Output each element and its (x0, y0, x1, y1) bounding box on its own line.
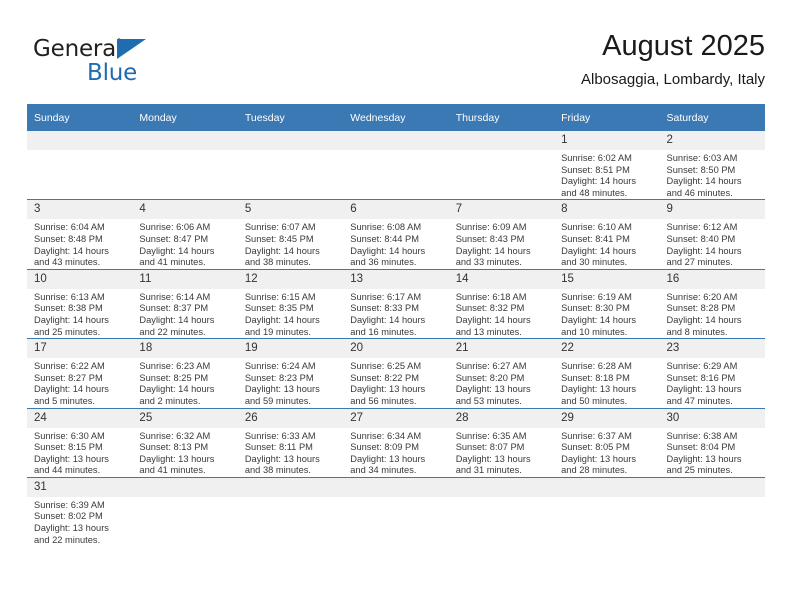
day-sunset-line: Sunset: 8:45 PM (245, 234, 337, 246)
day-number: 28 (449, 409, 554, 428)
day-daylight2-line: and 25 minutes. (667, 465, 759, 477)
calendar-day-cell[interactable]: 17Sunrise: 6:22 AMSunset: 8:27 PMDayligh… (27, 339, 132, 408)
day-sun-info: Sunrise: 6:09 AMSunset: 8:43 PMDaylight:… (449, 219, 554, 268)
day-daylight1-line: Daylight: 13 hours (667, 454, 759, 466)
day-sun-info: Sunrise: 6:32 AMSunset: 8:13 PMDaylight:… (132, 428, 237, 477)
day-sun-info: Sunrise: 6:20 AMSunset: 8:28 PMDaylight:… (660, 289, 765, 338)
calendar-day-cell-empty (27, 131, 132, 200)
day-daylight2-line: and 22 minutes. (139, 327, 231, 339)
day-daylight1-line: Daylight: 13 hours (561, 384, 653, 396)
day-number: 11 (132, 270, 237, 289)
day-daylight1-line: Daylight: 14 hours (456, 315, 548, 327)
day-sunset-line: Sunset: 8:11 PM (245, 442, 337, 454)
day-daylight2-line: and 31 minutes. (456, 465, 548, 477)
day-sunrise-line: Sunrise: 6:07 AM (245, 222, 337, 234)
day-daylight2-line: and 10 minutes. (561, 327, 653, 339)
day-daylight2-line: and 38 minutes. (245, 465, 337, 477)
calendar-day-cell-empty (132, 131, 237, 200)
day-number (449, 131, 554, 150)
day-daylight2-line: and 41 minutes. (139, 465, 231, 477)
calendar-day-cell-empty (449, 131, 554, 200)
day-sun-info: Sunrise: 6:07 AMSunset: 8:45 PMDaylight:… (238, 219, 343, 268)
day-daylight2-line: and 16 minutes. (350, 327, 442, 339)
day-number: 10 (27, 270, 132, 289)
day-sunrise-line: Sunrise: 6:20 AM (667, 292, 759, 304)
day-sunset-line: Sunset: 8:27 PM (34, 373, 126, 385)
day-sunrise-line: Sunrise: 6:14 AM (139, 292, 231, 304)
day-daylight1-line: Daylight: 14 hours (245, 246, 337, 258)
day-sunrise-line: Sunrise: 6:24 AM (245, 361, 337, 373)
day-sunset-line: Sunset: 8:41 PM (561, 234, 653, 246)
day-daylight2-line: and 53 minutes. (456, 396, 548, 408)
logo-text-general: General (33, 36, 122, 62)
calendar-day-cell[interactable]: 27Sunrise: 6:34 AMSunset: 8:09 PMDayligh… (343, 408, 448, 477)
day-sunset-line: Sunset: 8:25 PM (139, 373, 231, 385)
day-daylight1-line: Daylight: 14 hours (34, 246, 126, 258)
day-sunset-line: Sunset: 8:13 PM (139, 442, 231, 454)
day-sunset-line: Sunset: 8:20 PM (456, 373, 548, 385)
day-sunrise-line: Sunrise: 6:19 AM (561, 292, 653, 304)
day-daylight2-line: and 34 minutes. (350, 465, 442, 477)
weekday-header-saturday: Saturday (660, 104, 765, 131)
day-daylight1-line: Daylight: 14 hours (139, 246, 231, 258)
calendar-week-row: 24Sunrise: 6:30 AMSunset: 8:15 PMDayligh… (27, 408, 765, 477)
day-number: 8 (554, 200, 659, 219)
day-daylight2-line: and 56 minutes. (350, 396, 442, 408)
calendar-day-cell[interactable]: 23Sunrise: 6:29 AMSunset: 8:16 PMDayligh… (660, 339, 765, 408)
day-sunset-line: Sunset: 8:22 PM (350, 373, 442, 385)
day-sun-info: Sunrise: 6:27 AMSunset: 8:20 PMDaylight:… (449, 358, 554, 407)
day-number: 27 (343, 409, 448, 428)
calendar-day-cell[interactable]: 4Sunrise: 6:06 AMSunset: 8:47 PMDaylight… (132, 200, 237, 269)
day-daylight2-line: and 19 minutes. (245, 327, 337, 339)
day-daylight1-line: Daylight: 14 hours (139, 384, 231, 396)
day-daylight1-line: Daylight: 13 hours (245, 454, 337, 466)
day-sunset-line: Sunset: 8:23 PM (245, 373, 337, 385)
day-sun-info: Sunrise: 6:03 AMSunset: 8:50 PMDaylight:… (660, 150, 765, 199)
day-sunset-line: Sunset: 8:09 PM (350, 442, 442, 454)
day-daylight1-line: Daylight: 13 hours (350, 384, 442, 396)
day-sun-info: Sunrise: 6:04 AMSunset: 8:48 PMDaylight:… (27, 219, 132, 268)
calendar-page: General Blue August 2025 Albosaggia, Lom… (0, 0, 792, 612)
day-daylight2-line: and 27 minutes. (667, 257, 759, 269)
day-sunrise-line: Sunrise: 6:17 AM (350, 292, 442, 304)
weekday-header-sunday: Sunday (27, 104, 132, 131)
calendar-day-cell[interactable]: 31Sunrise: 6:39 AMSunset: 8:02 PMDayligh… (27, 477, 132, 546)
calendar-day-cell-empty (343, 477, 448, 546)
day-sunrise-line: Sunrise: 6:30 AM (34, 431, 126, 443)
day-sun-info: Sunrise: 6:24 AMSunset: 8:23 PMDaylight:… (238, 358, 343, 407)
logo-text-blue: Blue (87, 60, 137, 86)
day-sunrise-line: Sunrise: 6:23 AM (139, 361, 231, 373)
logo-triangle-icon (117, 39, 146, 59)
day-daylight1-line: Daylight: 14 hours (34, 384, 126, 396)
day-sunset-line: Sunset: 8:04 PM (667, 442, 759, 454)
day-sun-info: Sunrise: 6:23 AMSunset: 8:25 PMDaylight:… (132, 358, 237, 407)
day-sun-info: Sunrise: 6:19 AMSunset: 8:30 PMDaylight:… (554, 289, 659, 338)
calendar-day-cell[interactable]: 11Sunrise: 6:14 AMSunset: 8:37 PMDayligh… (132, 269, 237, 338)
day-sunrise-line: Sunrise: 6:35 AM (456, 431, 548, 443)
day-daylight1-line: Daylight: 14 hours (667, 176, 759, 188)
calendar-week-row: 10Sunrise: 6:13 AMSunset: 8:38 PMDayligh… (27, 269, 765, 338)
day-sunrise-line: Sunrise: 6:33 AM (245, 431, 337, 443)
day-number: 24 (27, 409, 132, 428)
day-number (449, 478, 554, 497)
day-daylight2-line: and 28 minutes. (561, 465, 653, 477)
day-daylight1-line: Daylight: 13 hours (34, 454, 126, 466)
day-sunrise-line: Sunrise: 6:39 AM (34, 500, 126, 512)
day-sun-info: Sunrise: 6:34 AMSunset: 8:09 PMDaylight:… (343, 428, 448, 477)
day-daylight1-line: Daylight: 13 hours (245, 384, 337, 396)
calendar-week-row: 1Sunrise: 6:02 AMSunset: 8:51 PMDaylight… (27, 131, 765, 200)
day-daylight1-line: Daylight: 14 hours (456, 246, 548, 258)
weekday-header-friday: Friday (554, 104, 659, 131)
day-daylight2-line: and 59 minutes. (245, 396, 337, 408)
day-number: 4 (132, 200, 237, 219)
calendar-day-cell[interactable]: 3Sunrise: 6:04 AMSunset: 8:48 PMDaylight… (27, 200, 132, 269)
general-blue-logo: General Blue (27, 36, 227, 90)
day-sunrise-line: Sunrise: 6:02 AM (561, 153, 653, 165)
day-number: 23 (660, 339, 765, 358)
day-sun-info: Sunrise: 6:38 AMSunset: 8:04 PMDaylight:… (660, 428, 765, 477)
day-number: 2 (660, 131, 765, 150)
day-number: 20 (343, 339, 448, 358)
day-number (343, 478, 448, 497)
day-sunrise-line: Sunrise: 6:10 AM (561, 222, 653, 234)
day-daylight1-line: Daylight: 14 hours (245, 315, 337, 327)
day-number: 14 (449, 270, 554, 289)
day-daylight2-line: and 47 minutes. (667, 396, 759, 408)
day-sunset-line: Sunset: 8:48 PM (34, 234, 126, 246)
day-sun-info: Sunrise: 6:22 AMSunset: 8:27 PMDaylight:… (27, 358, 132, 407)
calendar-day-cell-empty (660, 477, 765, 546)
day-daylight1-line: Daylight: 14 hours (561, 176, 653, 188)
day-daylight1-line: Daylight: 13 hours (667, 384, 759, 396)
day-number (27, 131, 132, 150)
day-daylight1-line: Daylight: 14 hours (667, 246, 759, 258)
calendar-day-cell[interactable]: 10Sunrise: 6:13 AMSunset: 8:38 PMDayligh… (27, 269, 132, 338)
calendar-week-row: 17Sunrise: 6:22 AMSunset: 8:27 PMDayligh… (27, 339, 765, 408)
weekday-header-wednesday: Wednesday (343, 104, 448, 131)
day-number: 15 (554, 270, 659, 289)
day-sunset-line: Sunset: 8:40 PM (667, 234, 759, 246)
day-number (132, 478, 237, 497)
day-sun-info: Sunrise: 6:17 AMSunset: 8:33 PMDaylight:… (343, 289, 448, 338)
day-number: 21 (449, 339, 554, 358)
day-number: 22 (554, 339, 659, 358)
day-sunset-line: Sunset: 8:43 PM (456, 234, 548, 246)
day-daylight2-line: and 8 minutes. (667, 327, 759, 339)
calendar-day-cell[interactable]: 12Sunrise: 6:15 AMSunset: 8:35 PMDayligh… (238, 269, 343, 338)
calendar-day-cell[interactable]: 21Sunrise: 6:27 AMSunset: 8:20 PMDayligh… (449, 339, 554, 408)
day-daylight2-line: and 2 minutes. (139, 396, 231, 408)
day-sunrise-line: Sunrise: 6:25 AM (350, 361, 442, 373)
calendar-day-cell[interactable]: 1Sunrise: 6:02 AMSunset: 8:51 PMDaylight… (554, 131, 659, 200)
day-number: 30 (660, 409, 765, 428)
day-sun-info: Sunrise: 6:28 AMSunset: 8:18 PMDaylight:… (554, 358, 659, 407)
day-sunset-line: Sunset: 8:28 PM (667, 303, 759, 315)
day-daylight1-line: Daylight: 13 hours (350, 454, 442, 466)
day-number: 12 (238, 270, 343, 289)
day-sun-info: Sunrise: 6:13 AMSunset: 8:38 PMDaylight:… (27, 289, 132, 338)
calendar-day-cell[interactable]: 5Sunrise: 6:07 AMSunset: 8:45 PMDaylight… (238, 200, 343, 269)
day-sunrise-line: Sunrise: 6:13 AM (34, 292, 126, 304)
weekday-header-tuesday: Tuesday (238, 104, 343, 131)
calendar-day-cell[interactable]: 26Sunrise: 6:33 AMSunset: 8:11 PMDayligh… (238, 408, 343, 477)
day-daylight2-line: and 5 minutes. (34, 396, 126, 408)
day-number: 16 (660, 270, 765, 289)
day-sunrise-line: Sunrise: 6:32 AM (139, 431, 231, 443)
calendar-day-cell[interactable]: 22Sunrise: 6:28 AMSunset: 8:18 PMDayligh… (554, 339, 659, 408)
page-title: August 2025 (581, 28, 765, 64)
day-number: 3 (27, 200, 132, 219)
day-daylight2-line: and 33 minutes. (456, 257, 548, 269)
weekday-header-thursday: Thursday (449, 104, 554, 131)
calendar-day-cell[interactable]: 30Sunrise: 6:38 AMSunset: 8:04 PMDayligh… (660, 408, 765, 477)
day-number: 7 (449, 200, 554, 219)
day-number: 25 (132, 409, 237, 428)
day-sun-info: Sunrise: 6:18 AMSunset: 8:32 PMDaylight:… (449, 289, 554, 338)
calendar-day-cell-empty (449, 477, 554, 546)
day-sunset-line: Sunset: 8:38 PM (34, 303, 126, 315)
day-sun-info: Sunrise: 6:06 AMSunset: 8:47 PMDaylight:… (132, 219, 237, 268)
calendar-day-cell[interactable]: 20Sunrise: 6:25 AMSunset: 8:22 PMDayligh… (343, 339, 448, 408)
calendar-day-cell-empty (343, 131, 448, 200)
day-daylight1-line: Daylight: 14 hours (350, 246, 442, 258)
calendar-day-cell-empty (238, 477, 343, 546)
day-sun-info: Sunrise: 6:02 AMSunset: 8:51 PMDaylight:… (554, 150, 659, 199)
day-number (238, 131, 343, 150)
day-daylight1-line: Daylight: 14 hours (139, 315, 231, 327)
day-daylight2-line: and 22 minutes. (34, 535, 126, 547)
day-sunrise-line: Sunrise: 6:09 AM (456, 222, 548, 234)
calendar-day-cell[interactable]: 16Sunrise: 6:20 AMSunset: 8:28 PMDayligh… (660, 269, 765, 338)
calendar-week-row: 31Sunrise: 6:39 AMSunset: 8:02 PMDayligh… (27, 477, 765, 546)
day-daylight2-line: and 38 minutes. (245, 257, 337, 269)
title-block: August 2025 Albosaggia, Lombardy, Italy (581, 28, 765, 89)
day-sunrise-line: Sunrise: 6:04 AM (34, 222, 126, 234)
day-sunset-line: Sunset: 8:37 PM (139, 303, 231, 315)
day-sun-info: Sunrise: 6:15 AMSunset: 8:35 PMDaylight:… (238, 289, 343, 338)
day-daylight1-line: Daylight: 14 hours (34, 315, 126, 327)
calendar-day-cell[interactable]: 25Sunrise: 6:32 AMSunset: 8:13 PMDayligh… (132, 408, 237, 477)
day-sunset-line: Sunset: 8:33 PM (350, 303, 442, 315)
day-daylight1-line: Daylight: 13 hours (34, 523, 126, 535)
day-daylight1-line: Daylight: 13 hours (456, 384, 548, 396)
day-number: 6 (343, 200, 448, 219)
day-sunset-line: Sunset: 8:16 PM (667, 373, 759, 385)
calendar-header-row: Sunday Monday Tuesday Wednesday Thursday… (27, 104, 765, 131)
day-sun-info: Sunrise: 6:12 AMSunset: 8:40 PMDaylight:… (660, 219, 765, 268)
day-daylight2-line: and 43 minutes. (34, 257, 126, 269)
calendar-day-cell[interactable]: 8Sunrise: 6:10 AMSunset: 8:41 PMDaylight… (554, 200, 659, 269)
calendar-day-cell[interactable]: 6Sunrise: 6:08 AMSunset: 8:44 PMDaylight… (343, 200, 448, 269)
day-daylight2-line: and 13 minutes. (456, 327, 548, 339)
day-sunset-line: Sunset: 8:47 PM (139, 234, 231, 246)
day-sunrise-line: Sunrise: 6:29 AM (667, 361, 759, 373)
day-daylight1-line: Daylight: 14 hours (561, 315, 653, 327)
calendar-day-cell[interactable]: 14Sunrise: 6:18 AMSunset: 8:32 PMDayligh… (449, 269, 554, 338)
day-sunset-line: Sunset: 8:07 PM (456, 442, 548, 454)
day-sunrise-line: Sunrise: 6:18 AM (456, 292, 548, 304)
day-sunset-line: Sunset: 8:15 PM (34, 442, 126, 454)
calendar-day-cell[interactable]: 9Sunrise: 6:12 AMSunset: 8:40 PMDaylight… (660, 200, 765, 269)
day-sun-info: Sunrise: 6:39 AMSunset: 8:02 PMDaylight:… (27, 497, 132, 546)
day-sunset-line: Sunset: 8:44 PM (350, 234, 442, 246)
calendar-day-cell[interactable]: 15Sunrise: 6:19 AMSunset: 8:30 PMDayligh… (554, 269, 659, 338)
calendar-body: 1Sunrise: 6:02 AMSunset: 8:51 PMDaylight… (27, 131, 765, 546)
day-daylight2-line: and 36 minutes. (350, 257, 442, 269)
day-number: 31 (27, 478, 132, 497)
calendar-day-cell[interactable]: 24Sunrise: 6:30 AMSunset: 8:15 PMDayligh… (27, 408, 132, 477)
calendar-day-cell[interactable]: 7Sunrise: 6:09 AMSunset: 8:43 PMDaylight… (449, 200, 554, 269)
day-sunrise-line: Sunrise: 6:27 AM (456, 361, 548, 373)
day-sunrise-line: Sunrise: 6:37 AM (561, 431, 653, 443)
page-subtitle: Albosaggia, Lombardy, Italy (581, 70, 765, 89)
calendar-day-cell-empty (554, 477, 659, 546)
day-sun-info: Sunrise: 6:33 AMSunset: 8:11 PMDaylight:… (238, 428, 343, 477)
day-sunset-line: Sunset: 8:18 PM (561, 373, 653, 385)
day-sunset-line: Sunset: 8:02 PM (34, 511, 126, 523)
day-sun-info: Sunrise: 6:25 AMSunset: 8:22 PMDaylight:… (343, 358, 448, 407)
day-sun-info: Sunrise: 6:37 AMSunset: 8:05 PMDaylight:… (554, 428, 659, 477)
day-number (343, 131, 448, 150)
day-number (660, 478, 765, 497)
day-number: 5 (238, 200, 343, 219)
day-sunrise-line: Sunrise: 6:12 AM (667, 222, 759, 234)
weekday-header-monday: Monday (132, 104, 237, 131)
day-number: 1 (554, 131, 659, 150)
day-number (238, 478, 343, 497)
sunrise-sunset-calendar: Sunday Monday Tuesday Wednesday Thursday… (27, 104, 765, 546)
day-daylight1-line: Daylight: 13 hours (561, 454, 653, 466)
day-number: 13 (343, 270, 448, 289)
day-sun-info: Sunrise: 6:30 AMSunset: 8:15 PMDaylight:… (27, 428, 132, 477)
day-sunrise-line: Sunrise: 6:28 AM (561, 361, 653, 373)
calendar-day-cell[interactable]: 18Sunrise: 6:23 AMSunset: 8:25 PMDayligh… (132, 339, 237, 408)
day-sunset-line: Sunset: 8:51 PM (561, 165, 653, 177)
day-daylight2-line: and 30 minutes. (561, 257, 653, 269)
day-sun-info: Sunrise: 6:35 AMSunset: 8:07 PMDaylight:… (449, 428, 554, 477)
day-number: 29 (554, 409, 659, 428)
day-daylight1-line: Daylight: 14 hours (667, 315, 759, 327)
day-number: 19 (238, 339, 343, 358)
day-sunset-line: Sunset: 8:50 PM (667, 165, 759, 177)
day-number (132, 131, 237, 150)
calendar-day-cell-empty (132, 477, 237, 546)
day-number: 17 (27, 339, 132, 358)
day-sunrise-line: Sunrise: 6:15 AM (245, 292, 337, 304)
day-sunrise-line: Sunrise: 6:06 AM (139, 222, 231, 234)
day-number: 9 (660, 200, 765, 219)
calendar-day-cell[interactable]: 29Sunrise: 6:37 AMSunset: 8:05 PMDayligh… (554, 408, 659, 477)
day-daylight2-line: and 48 minutes. (561, 188, 653, 200)
day-daylight2-line: and 46 minutes. (667, 188, 759, 200)
day-daylight2-line: and 41 minutes. (139, 257, 231, 269)
day-sunrise-line: Sunrise: 6:08 AM (350, 222, 442, 234)
day-daylight1-line: Daylight: 13 hours (139, 454, 231, 466)
day-sun-info: Sunrise: 6:10 AMSunset: 8:41 PMDaylight:… (554, 219, 659, 268)
day-sunset-line: Sunset: 8:32 PM (456, 303, 548, 315)
calendar-day-cell-empty (238, 131, 343, 200)
calendar-day-cell[interactable]: 2Sunrise: 6:03 AMSunset: 8:50 PMDaylight… (660, 131, 765, 200)
day-daylight1-line: Daylight: 14 hours (561, 246, 653, 258)
calendar-day-cell[interactable]: 19Sunrise: 6:24 AMSunset: 8:23 PMDayligh… (238, 339, 343, 408)
day-sunset-line: Sunset: 8:30 PM (561, 303, 653, 315)
day-number: 26 (238, 409, 343, 428)
calendar-day-cell[interactable]: 28Sunrise: 6:35 AMSunset: 8:07 PMDayligh… (449, 408, 554, 477)
day-sunset-line: Sunset: 8:35 PM (245, 303, 337, 315)
day-daylight2-line: and 44 minutes. (34, 465, 126, 477)
day-sunset-line: Sunset: 8:05 PM (561, 442, 653, 454)
day-sun-info: Sunrise: 6:29 AMSunset: 8:16 PMDaylight:… (660, 358, 765, 407)
day-number: 18 (132, 339, 237, 358)
day-daylight1-line: Daylight: 14 hours (350, 315, 442, 327)
day-sunrise-line: Sunrise: 6:38 AM (667, 431, 759, 443)
day-sunrise-line: Sunrise: 6:34 AM (350, 431, 442, 443)
day-sun-info: Sunrise: 6:08 AMSunset: 8:44 PMDaylight:… (343, 219, 448, 268)
calendar-week-row: 3Sunrise: 6:04 AMSunset: 8:48 PMDaylight… (27, 200, 765, 269)
day-number (554, 478, 659, 497)
day-daylight2-line: and 25 minutes. (34, 327, 126, 339)
day-sun-info: Sunrise: 6:14 AMSunset: 8:37 PMDaylight:… (132, 289, 237, 338)
day-sunrise-line: Sunrise: 6:03 AM (667, 153, 759, 165)
day-sunrise-line: Sunrise: 6:22 AM (34, 361, 126, 373)
calendar-day-cell[interactable]: 13Sunrise: 6:17 AMSunset: 8:33 PMDayligh… (343, 269, 448, 338)
day-daylight2-line: and 50 minutes. (561, 396, 653, 408)
masthead: General Blue August 2025 Albosaggia, Lom… (27, 28, 765, 90)
day-daylight1-line: Daylight: 13 hours (456, 454, 548, 466)
